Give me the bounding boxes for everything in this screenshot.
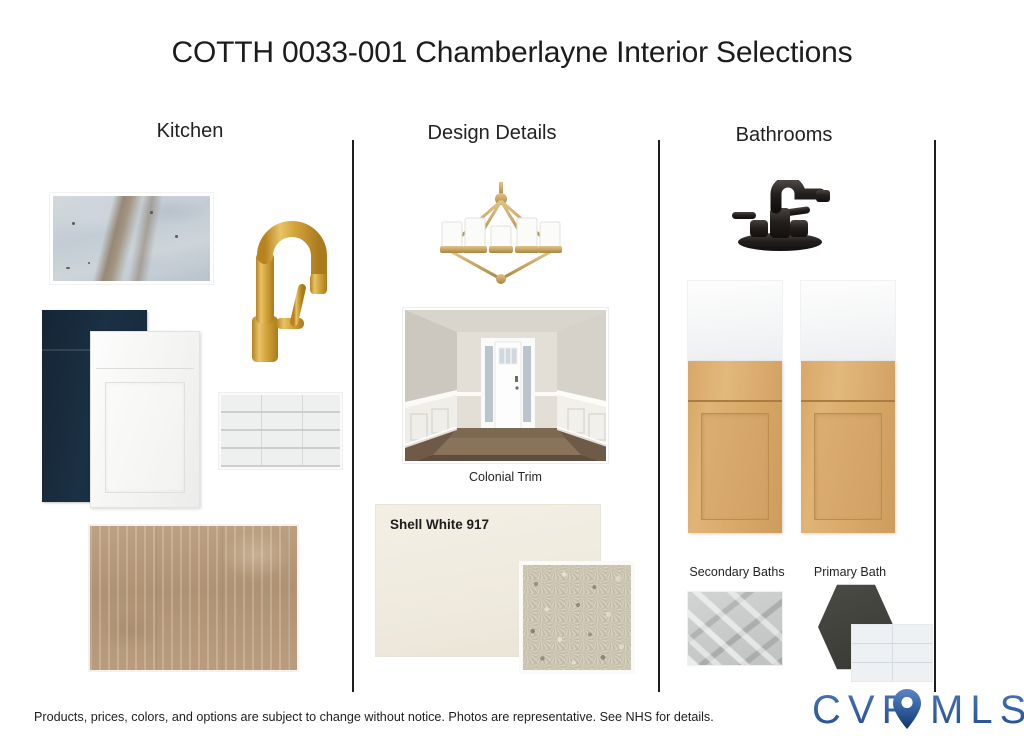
interior-selections-board: COTTH 0033-001 Chamberlayne Interior Sel… — [0, 0, 1024, 736]
column-header-bathrooms: Bathrooms — [684, 124, 884, 147]
white-subway-tile-sample — [852, 625, 932, 681]
caption-secondary-baths: Secondary Baths — [672, 565, 802, 579]
logo-text-mls: MLS — [930, 686, 1024, 734]
white-cabinet-door — [90, 331, 200, 508]
caption-colonial-trim: Colonial Trim — [403, 470, 608, 484]
kitchen-faucet-icon — [232, 206, 336, 366]
colonial-trim-photo — [403, 308, 608, 463]
bath-faucet-icon — [724, 180, 844, 256]
column-header-design-details: Design Details — [392, 122, 592, 145]
footer-disclaimer: Products, prices, colors, and options ar… — [34, 710, 714, 724]
cvr-mls-logo: CVR MLS — [812, 686, 1018, 734]
paint-color-name: Shell White 917 — [390, 517, 489, 532]
vanity-primary-bath — [801, 281, 895, 533]
chandelier-icon — [428, 182, 574, 286]
vanity-secondary-baths — [688, 281, 782, 533]
carpet-sample — [519, 561, 635, 674]
page-title: COTTH 0033-001 Chamberlayne Interior Sel… — [0, 36, 1024, 70]
column-divider-edge — [934, 140, 936, 692]
map-pin-icon — [892, 688, 922, 730]
backsplash-tile-sample — [219, 393, 342, 469]
countertop-sample — [50, 193, 213, 284]
column-header-kitchen: Kitchen — [90, 120, 290, 143]
column-divider-right — [658, 140, 660, 692]
column-divider-left — [352, 140, 354, 692]
grey-marble-tile-sample — [688, 592, 782, 665]
trim-photo-illustration — [405, 310, 608, 463]
flooring-sample — [88, 524, 299, 672]
caption-primary-bath: Primary Bath — [790, 565, 910, 579]
